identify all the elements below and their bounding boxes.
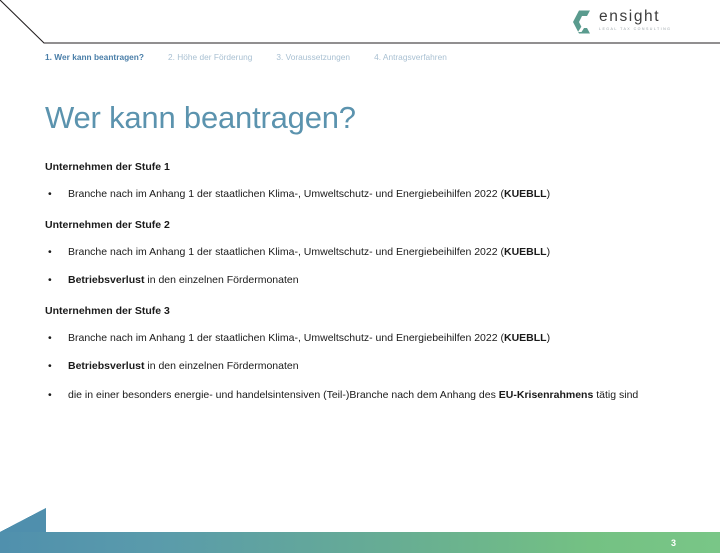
bullet-item: •Branche nach im Anhang 1 der staatliche…: [45, 187, 675, 203]
logo-wordmark: ensight: [599, 8, 671, 25]
bullet-text-run: die in einer besonders energie- und hand…: [68, 389, 499, 401]
page-number: 3: [671, 537, 676, 549]
bullet-text-emphasis: Betriebsverlust: [68, 360, 144, 372]
bullet-marker-icon: •: [45, 359, 68, 375]
page-title: Wer kann beantragen?: [45, 100, 356, 136]
content-section: Unternehmen der Stufe 2•Branche nach im …: [45, 218, 675, 289]
bullet-text: Betriebsverlust in den einzelnen Förderm…: [68, 273, 675, 289]
bullet-text: Branche nach im Anhang 1 der staatlichen…: [68, 331, 675, 347]
bullet-text-emphasis: Betriebsverlust: [68, 274, 144, 286]
bullet-text: Branche nach im Anhang 1 der staatlichen…: [68, 245, 675, 261]
bullet-marker-icon: •: [45, 187, 68, 203]
bullet-text-run: Branche nach im Anhang 1 der staatlichen…: [68, 332, 504, 344]
bullet-item: •Betriebsverlust in den einzelnen Förder…: [45, 273, 675, 289]
bullet-text: Branche nach im Anhang 1 der staatlichen…: [68, 187, 675, 203]
bullet-item: •Branche nach im Anhang 1 der staatliche…: [45, 245, 675, 261]
bullet-text-run: in den einzelnen Fördermonaten: [144, 274, 298, 286]
bullet-text-run: Branche nach im Anhang 1 der staatlichen…: [68, 188, 504, 200]
bullet-text-run: ): [547, 188, 551, 200]
nav-item-4[interactable]: 4. Antragsverfahren: [374, 52, 447, 62]
bullet-item: •die in einer besonders energie- und han…: [45, 388, 675, 404]
content-section: Unternehmen der Stufe 3•Branche nach im …: [45, 304, 675, 404]
nav-item-3[interactable]: 3. Voraussetzungen: [276, 52, 350, 62]
bullet-item: •Betriebsverlust in den einzelnen Förder…: [45, 359, 675, 375]
section-heading: Unternehmen der Stufe 3: [45, 304, 675, 318]
section-heading: Unternehmen der Stufe 2: [45, 218, 675, 232]
bullet-marker-icon: •: [45, 388, 68, 404]
nav-item-2[interactable]: 2. Höhe der Förderung: [168, 52, 252, 62]
bullet-marker-icon: •: [45, 273, 68, 289]
content-section: Unternehmen der Stufe 1•Branche nach im …: [45, 160, 675, 203]
bullet-text: Betriebsverlust in den einzelnen Förderm…: [68, 359, 675, 375]
footer-wedge-decoration: [0, 508, 46, 532]
logo-tagline: LEGAL TAX CONSULTING: [599, 26, 671, 32]
section-nav: 1. Wer kann beantragen?2. Höhe der Förde…: [45, 52, 447, 62]
bullet-text-emphasis: KUEBLL: [504, 188, 547, 200]
slide-body: Unternehmen der Stufe 1•Branche nach im …: [45, 160, 675, 403]
nav-item-1[interactable]: 1. Wer kann beantragen?: [45, 52, 144, 62]
bullet-text-run: in den einzelnen Fördermonaten: [144, 360, 298, 372]
bullet-text-run: Branche nach im Anhang 1 der staatlichen…: [68, 246, 504, 258]
bullet-marker-icon: •: [45, 331, 68, 347]
footer-gradient-bar: [0, 532, 720, 553]
bullet-text-run: ): [547, 246, 551, 258]
bullet-text: die in einer besonders energie- und hand…: [68, 388, 675, 404]
bullet-text-run: ): [547, 332, 551, 344]
bullet-text-emphasis: KUEBLL: [504, 332, 547, 344]
brand-logo: ensight LEGAL TAX CONSULTING: [572, 8, 684, 38]
section-heading: Unternehmen der Stufe 1: [45, 160, 675, 174]
bullet-text-emphasis: EU-Krisenrahmens: [499, 389, 594, 401]
bullet-text-emphasis: KUEBLL: [504, 246, 547, 258]
bullet-item: •Branche nach im Anhang 1 der staatliche…: [45, 331, 675, 347]
ensight-hexagon-c-mark-icon: [572, 9, 598, 35]
slide-canvas: ensight LEGAL TAX CONSULTING 1. Wer kann…: [0, 0, 720, 553]
bullet-text-run: tätig sind: [593, 389, 638, 401]
bullet-marker-icon: •: [45, 245, 68, 261]
